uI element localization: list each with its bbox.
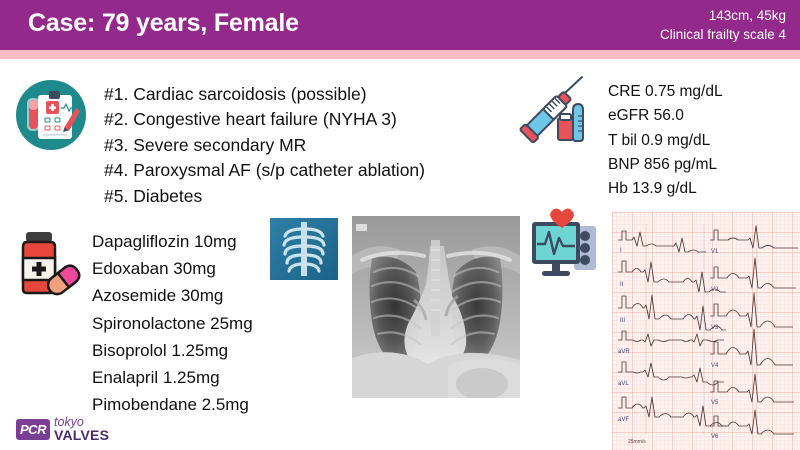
ecg-lead-label: V1 [711,249,719,255]
patient-vitals-block: 143cm, 45kg Clinical frailty scale 4 [660,6,786,44]
ecg-caption: 25mm/s [628,439,646,445]
lab-values-list: CRE 0.75 mg/dL eGFR 56.0 T bil 0.9 mg/dL… [608,80,723,202]
list-item: Bisoprolol 1.25mg [92,337,253,364]
ecg-lead-label: aVR [618,349,630,355]
ecg-lead-label: V5 [711,400,719,406]
logo-valves-text: VALVES [54,428,109,442]
brand-logo: PCR tokyo VALVES [16,416,124,444]
page-title: Case: 79 years, Female [28,9,299,38]
list-item: #3. Severe secondary MR [104,133,425,158]
list-item: #1. Cardiac sarcoidosis (possible) [104,82,425,107]
ecg-lead-label: V3 [711,325,719,331]
list-item: #4. Paroxysmal AF (s/p catheter ablation… [104,158,425,183]
list-item: Spironolactone 25mg [92,310,253,337]
syringe-icon [508,74,592,150]
list-item: BNP 856 pg/mL [608,153,723,177]
pill-bottle-icon [10,228,82,300]
list-item: Edoxaban 30mg [92,255,253,282]
list-item: #2. Congestive heart failure (NYHA 3) [104,107,425,132]
ecg-lead-label: aVL [618,381,629,387]
list-item: #5. Diabetes [104,184,425,209]
header-accent-strip [0,50,800,59]
patient-height-weight: 143cm, 45kg [660,6,786,25]
logo-mark: PCR [16,419,50,440]
ecg-monitor-icon [524,208,604,284]
ecg-lead-label: III [620,318,625,324]
ribcage-icon [270,218,338,280]
ecg-lead-label: aVF [618,417,629,423]
list-item: T bil 0.9 mg/dL [608,129,723,153]
list-item: eGFR 56.0 [608,104,723,128]
ecg-lead-label: V4 [711,363,719,369]
list-item: Hb 13.9 g/dL [608,177,723,201]
ecg-lead-label: II [620,282,624,288]
list-item: Enalapril 1.25mg [92,364,253,391]
medical-record-icon [14,78,88,152]
ecg-strip-image: I II III aVR aVL aVF V1 V2 V3 V4 V5 V6 2… [612,212,800,450]
ecg-lead-label: V2 [711,287,719,293]
chest-xray-image [352,216,520,398]
list-item: Dapagliflozin 10mg [92,228,253,255]
diagnosis-list: #1. Cardiac sarcoidosis (possible) #2. C… [104,82,425,209]
list-item: CRE 0.75 mg/dL [608,80,723,104]
ecg-lead-label: V6 [711,434,719,440]
list-item: Azosemide 30mg [92,282,253,309]
list-item: Pimobendane 2.5mg [92,391,253,418]
medication-list: Dapagliflozin 10mg Edoxaban 30mg Azosemi… [92,228,253,418]
patient-frailty-scale: Clinical frailty scale 4 [660,25,786,44]
